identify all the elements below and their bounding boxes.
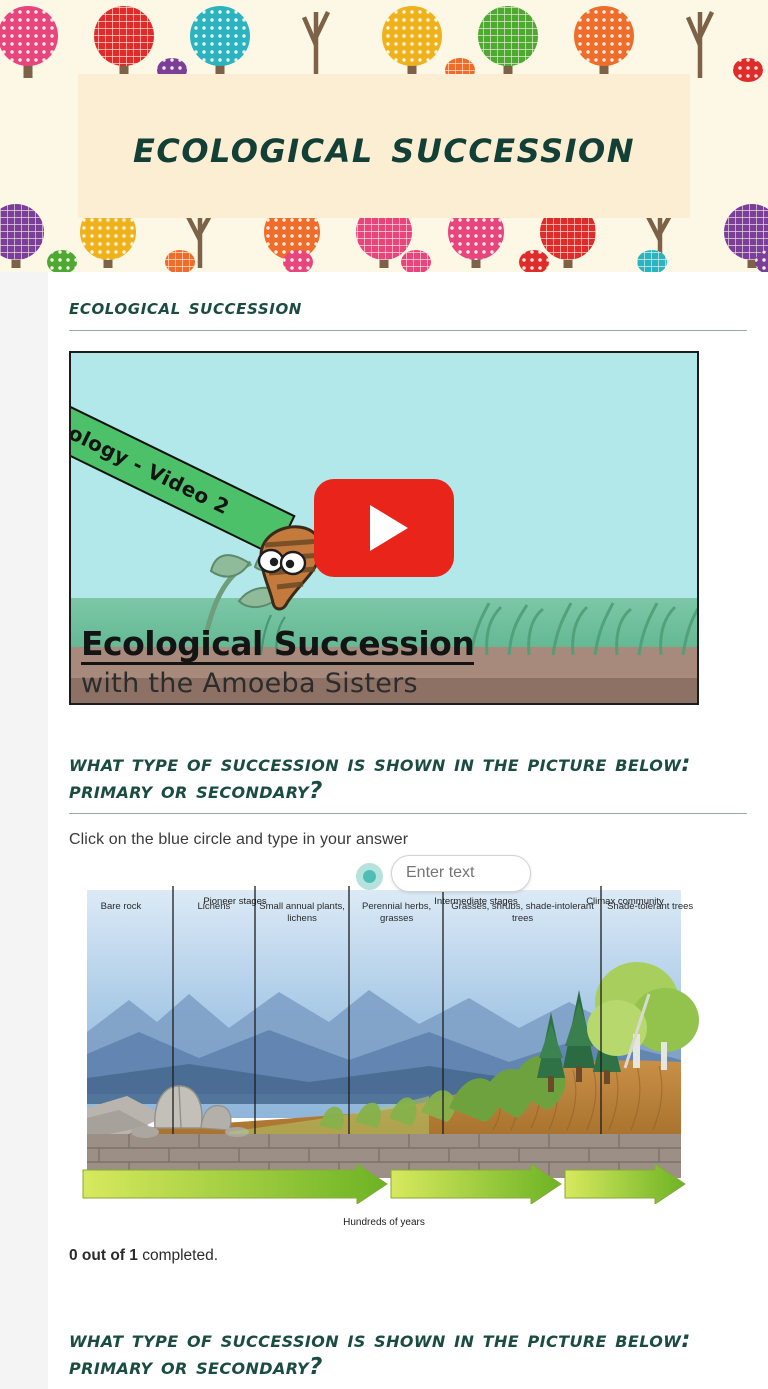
question-one-divider (69, 813, 747, 814)
timescale-caption: Hundreds of years (69, 1217, 699, 1228)
answer-marker-dot[interactable] (356, 863, 383, 890)
succession-diagram: Bare rock Lichens Small annual plants, l… (69, 882, 699, 1234)
play-triangle-icon (370, 505, 408, 551)
title-plate: Ecological Succession (78, 74, 690, 218)
page-header: Ecological Succession (0, 0, 768, 272)
marker-inner-dot (363, 870, 376, 883)
video-caption-subtitle: with the Amoeba Sisters (81, 670, 474, 697)
question-one-heading: What type of succession is shown in the … (69, 751, 747, 813)
play-button[interactable] (314, 479, 454, 577)
completion-status: 0 out of 1 completed. (69, 1234, 747, 1265)
video-section-title: Ecological Succession (69, 294, 747, 330)
video-caption: Ecological Succession with the Amoeba Si… (81, 627, 474, 697)
stage-label-row: Bare rock Lichens Small annual plants, l… (69, 882, 699, 934)
answer-text-input[interactable] (391, 855, 531, 892)
stage-label: Lichens (173, 882, 255, 934)
succession-arrows (69, 1164, 699, 1204)
completion-count: 0 out of 1 (69, 1247, 138, 1264)
section-divider (69, 330, 747, 331)
content-card: Ecological Succession (48, 272, 768, 1389)
video-caption-title: Ecological Succession (81, 627, 474, 665)
page-title: Ecological Succession (133, 116, 635, 177)
stage-label: Bare rock (69, 882, 173, 934)
question-one-helper: Click on the blue circle and type in you… (69, 814, 747, 860)
video-player[interactable]: Ecology - Video 2 Ecologi (69, 351, 699, 705)
stage-label: Shade-tolerant trees (601, 882, 699, 934)
completion-suffix: completed. (138, 1247, 218, 1264)
stage-label: Small annual plants, lichens (255, 882, 350, 934)
